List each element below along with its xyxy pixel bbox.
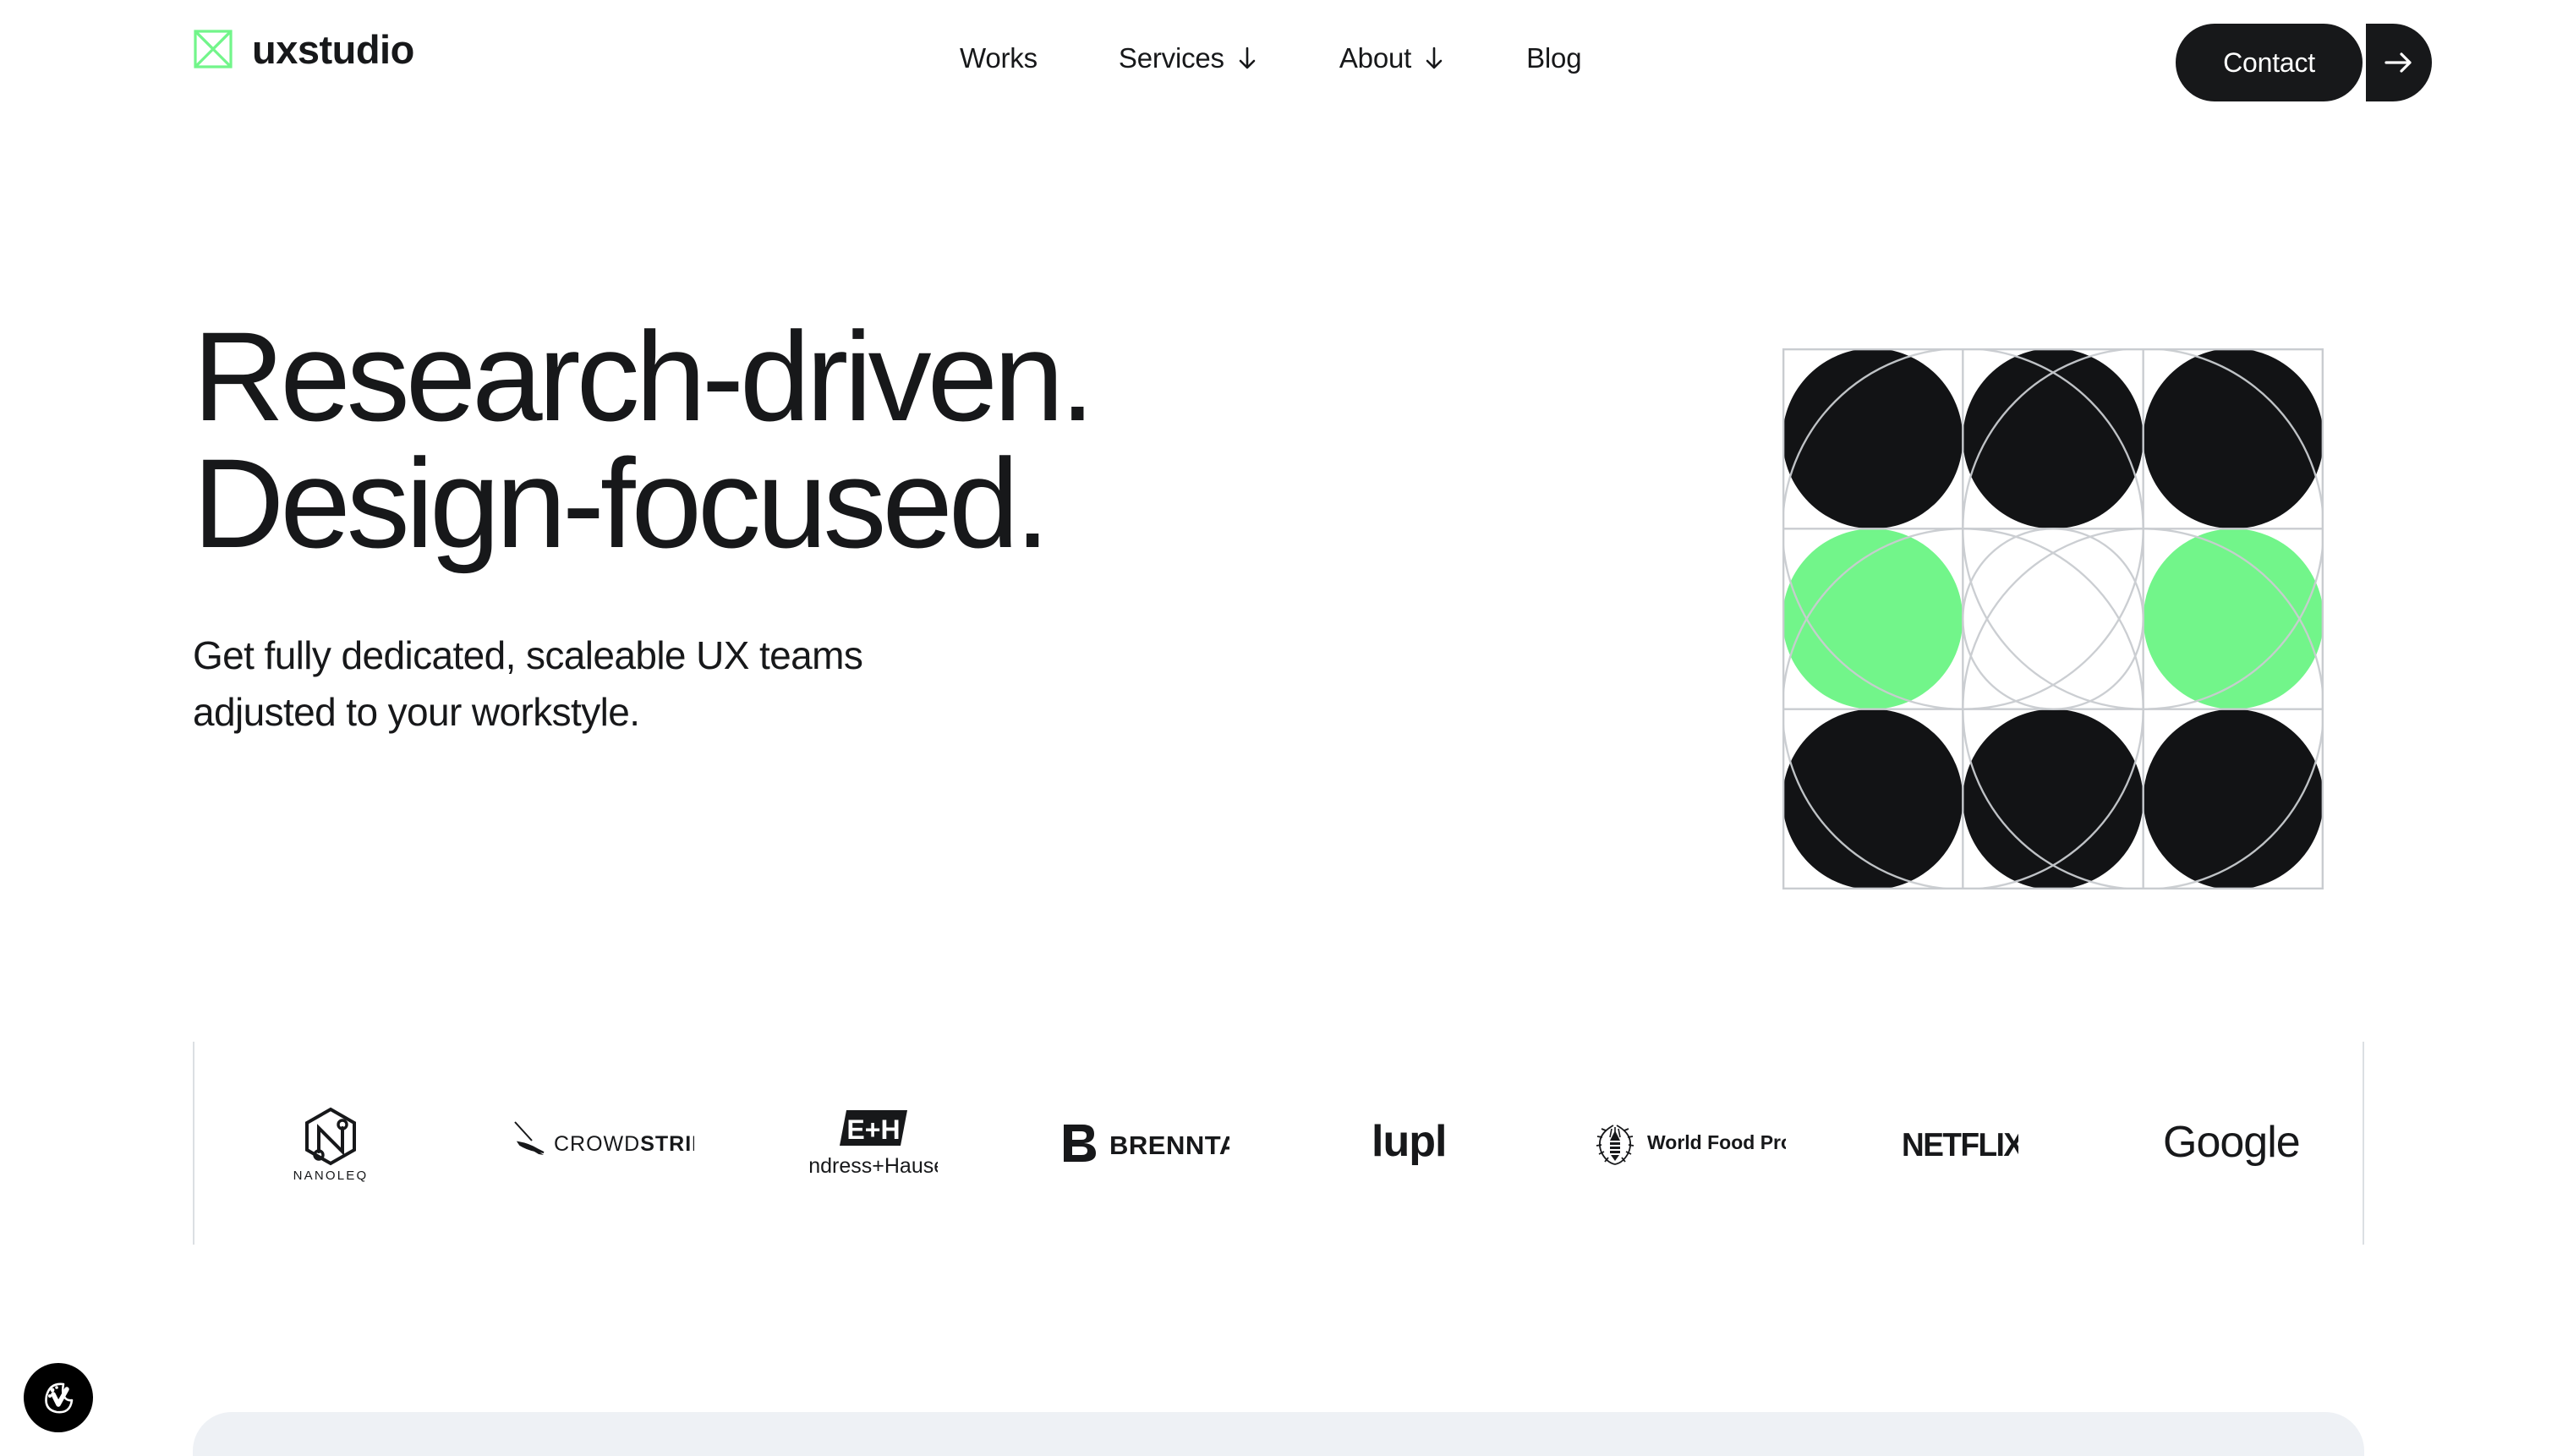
contact-button[interactable]: Contact	[2176, 24, 2363, 101]
hero-subtitle: Get fully dedicated, scaleable UX teams …	[193, 627, 1123, 740]
hero-title-line-2: Design-focused.	[193, 440, 1630, 567]
logo-cell: World Food Programme	[1552, 1042, 1823, 1245]
nav-item-works[interactable]: Works	[960, 42, 1038, 74]
endress-hauser-logo: E+H Endress+Hauser	[809, 1107, 938, 1180]
arrow-down-icon	[1236, 47, 1258, 70]
hero-subtitle-line-2: adjusted to your workstyle.	[193, 684, 1123, 741]
brand-name: uxstudio	[252, 30, 414, 69]
logo-cell: NANOLEQ	[194, 1042, 466, 1245]
svg-text:NETFLIX: NETFLIX	[1902, 1127, 2018, 1163]
crowdstrike-logo: CROWDSTRIKE	[510, 1117, 694, 1169]
netflix-logo: NETFLIX	[1900, 1123, 2018, 1163]
logo-cell: lupl	[1280, 1042, 1552, 1245]
svg-text:NANOLEQ: NANOLEQ	[293, 1169, 368, 1182]
nanoleq-logo: NANOLEQ	[292, 1104, 370, 1182]
logo-cell: E+H Endress+Hauser	[737, 1042, 1009, 1245]
nav-item-label: Works	[960, 42, 1038, 74]
nav-item-label: Blog	[1526, 42, 1581, 74]
google-logo: Google	[2161, 1118, 2300, 1169]
logo-cell: Google	[2094, 1042, 2364, 1245]
svg-text:Google: Google	[2163, 1118, 2300, 1167]
contact-arrow-button[interactable]	[2366, 24, 2432, 101]
lupl-logo: lupl	[1370, 1117, 1463, 1169]
svg-text:BRENNTAG: BRENNTAG	[1109, 1130, 1229, 1160]
brand-logo-link[interactable]: uxstudio	[193, 29, 414, 69]
hero-title-line-1: Research-driven.	[193, 313, 1630, 440]
circle-grid-graphic	[1782, 348, 2324, 889]
cookie-consent-button[interactable]	[24, 1363, 93, 1432]
svg-text:CROWDSTRIKE: CROWDSTRIKE	[554, 1132, 694, 1156]
svg-text:lupl: lupl	[1372, 1117, 1446, 1166]
logo-cell: BRENNTAG	[1009, 1042, 1280, 1245]
main-navigation: Works Services About Blog	[960, 42, 1581, 74]
logo-cell: NETFLIX	[1823, 1042, 2094, 1245]
world-food-programme-logo: World Food Programme	[1590, 1117, 1786, 1169]
nav-item-blog[interactable]: Blog	[1526, 42, 1581, 74]
nav-item-services[interactable]: Services	[1119, 42, 1258, 74]
page-title: Research-driven. Design-focused.	[193, 313, 1630, 567]
client-logo-strip: NANOLEQ CROWDSTRIKE E+H Endress+Hauser	[193, 1042, 2364, 1245]
nav-item-about[interactable]: About	[1339, 42, 1445, 74]
nav-item-label: About	[1339, 42, 1411, 74]
arrow-right-icon	[2384, 50, 2414, 75]
landing-page: uxstudio Works Services About	[0, 0, 2557, 1456]
contact-cta-group: Contact	[2176, 24, 2432, 101]
nav-item-label: Services	[1119, 42, 1224, 74]
svg-text:Endress+Hauser: Endress+Hauser	[809, 1154, 938, 1178]
site-header: uxstudio Works Services About	[0, 0, 2557, 125]
svg-text:E+H: E+H	[846, 1114, 900, 1145]
cookie-consent-icon	[38, 1377, 79, 1418]
logo-cell: CROWDSTRIKE	[466, 1042, 737, 1245]
uxstudio-mark-icon	[193, 29, 233, 69]
next-section-panel	[193, 1412, 2364, 1456]
brenntag-logo: BRENNTAG	[1060, 1121, 1229, 1165]
hero-subtitle-line-1: Get fully dedicated, scaleable UX teams	[193, 627, 1123, 684]
hero-section: Research-driven. Design-focused. Get ful…	[193, 313, 1630, 740]
arrow-down-icon	[1423, 47, 1445, 70]
svg-text:World Food Programme: World Food Programme	[1647, 1131, 1786, 1153]
